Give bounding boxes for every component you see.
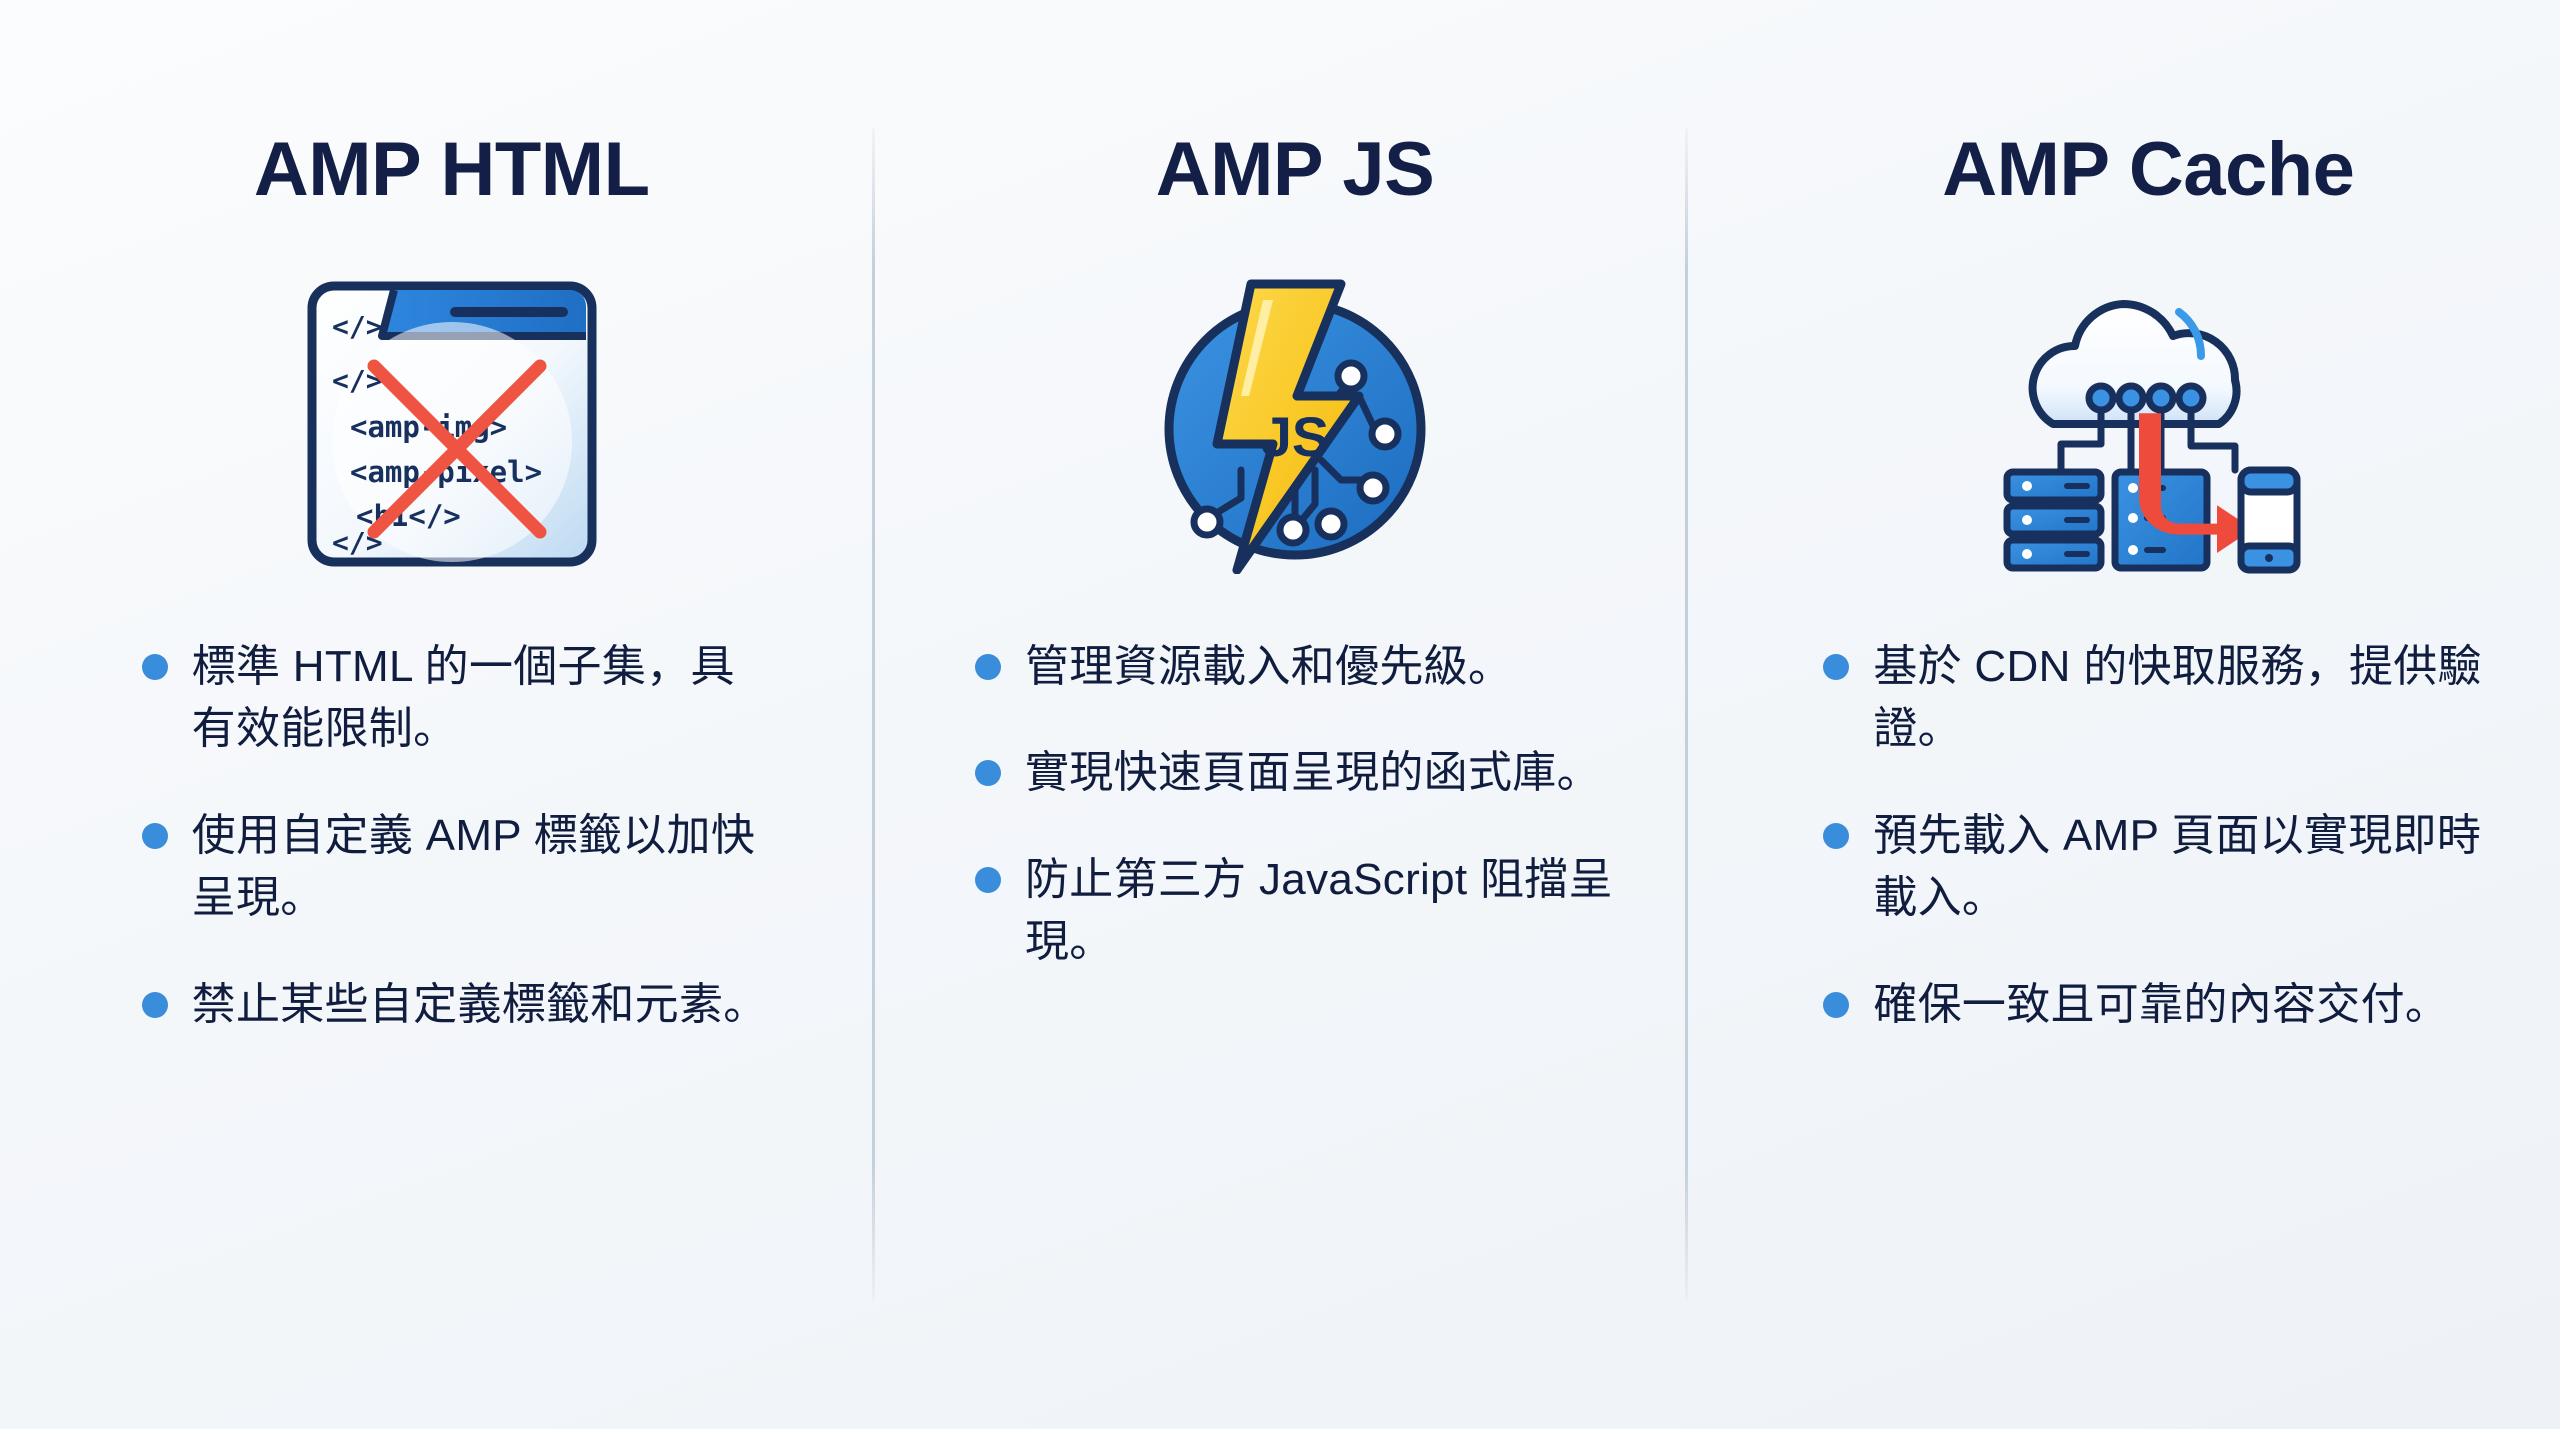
bullet-dot-icon [1823, 992, 1849, 1018]
bullet-dot-icon [142, 992, 168, 1018]
column-title-amp-cache: AMP Cache [1942, 132, 2354, 208]
list-item: 確保一致且可靠的內容交付。 [1823, 974, 2483, 1036]
list-item: 標準 HTML 的一個子集，具有效能限制。 [142, 636, 772, 761]
column-amp-js: AMP JS [853, 0, 1706, 1429]
bullet-dot-icon [142, 823, 168, 849]
list-item: 基於 CDN 的快取服務，提供驗證。 [1823, 636, 2483, 761]
svg-text:JS: JS [1261, 405, 1330, 468]
columns-container: AMP HTML [0, 0, 2560, 1429]
lightning-bolt-js-circuit-icon: JS [1145, 274, 1445, 574]
cloud-servers-phone-delivery-icon [1983, 274, 2313, 574]
browser-code-crossed-out-icon: </> </> <amp-img> <amp-pixel> <h1</> </> [302, 274, 602, 574]
bullet-dot-icon [1823, 654, 1849, 680]
list-item: 使用自定義 AMP 標籤以加快呈現。 [142, 805, 772, 930]
list-item: 防止第三方 JavaScript 阻擋呈現。 [975, 849, 1625, 974]
bullet-text: 實現快速頁面呈現的函式庫。 [1025, 742, 1601, 804]
column-amp-cache: AMP Cache [1707, 0, 2560, 1429]
bullet-dot-icon [975, 760, 1001, 786]
bullet-text: 預先載入 AMP 頁面以實現即時載入。 [1873, 805, 2483, 930]
bullet-dot-icon [975, 654, 1001, 680]
bullet-text: 管理資源載入和優先級。 [1025, 636, 1512, 698]
bullet-list-amp-html: 標準 HTML 的一個子集，具有效能限制。 使用自定義 AMP 標籤以加快呈現。… [132, 636, 772, 1036]
column-amp-html: AMP HTML [0, 0, 853, 1429]
list-item: 管理資源載入和優先級。 [975, 636, 1625, 698]
bullet-dot-icon [142, 654, 168, 680]
list-item: 預先載入 AMP 頁面以實現即時載入。 [1823, 805, 2483, 930]
bullet-dot-icon [1823, 823, 1849, 849]
bullet-list-amp-js: 管理資源載入和優先級。 實現快速頁面呈現的函式庫。 防止第三方 JavaScri… [965, 636, 1625, 974]
column-title-amp-html: AMP HTML [254, 132, 650, 208]
infographic-page: AMP HTML [0, 0, 2560, 1429]
bullet-text: 防止第三方 JavaScript 阻擋呈現。 [1025, 849, 1625, 974]
bullet-dot-icon [975, 867, 1001, 893]
list-item: 實現快速頁面呈現的函式庫。 [975, 742, 1625, 804]
bullet-text: 標準 HTML 的一個子集，具有效能限制。 [192, 636, 772, 761]
svg-text:</>: </> [332, 310, 383, 343]
bullet-text: 確保一致且可靠的內容交付。 [1873, 974, 2449, 1036]
column-title-amp-js: AMP JS [1156, 132, 1435, 208]
bullet-text: 使用自定義 AMP 標籤以加快呈現。 [192, 805, 772, 930]
bullet-text: 禁止某些自定義標籤和元素。 [192, 974, 768, 1036]
list-item: 禁止某些自定義標籤和元素。 [142, 974, 772, 1036]
bullet-text: 基於 CDN 的快取服務，提供驗證。 [1873, 636, 2483, 761]
bullet-list-amp-cache: 基於 CDN 的快取服務，提供驗證。 預先載入 AMP 頁面以實現即時載入。 確… [1813, 636, 2483, 1036]
